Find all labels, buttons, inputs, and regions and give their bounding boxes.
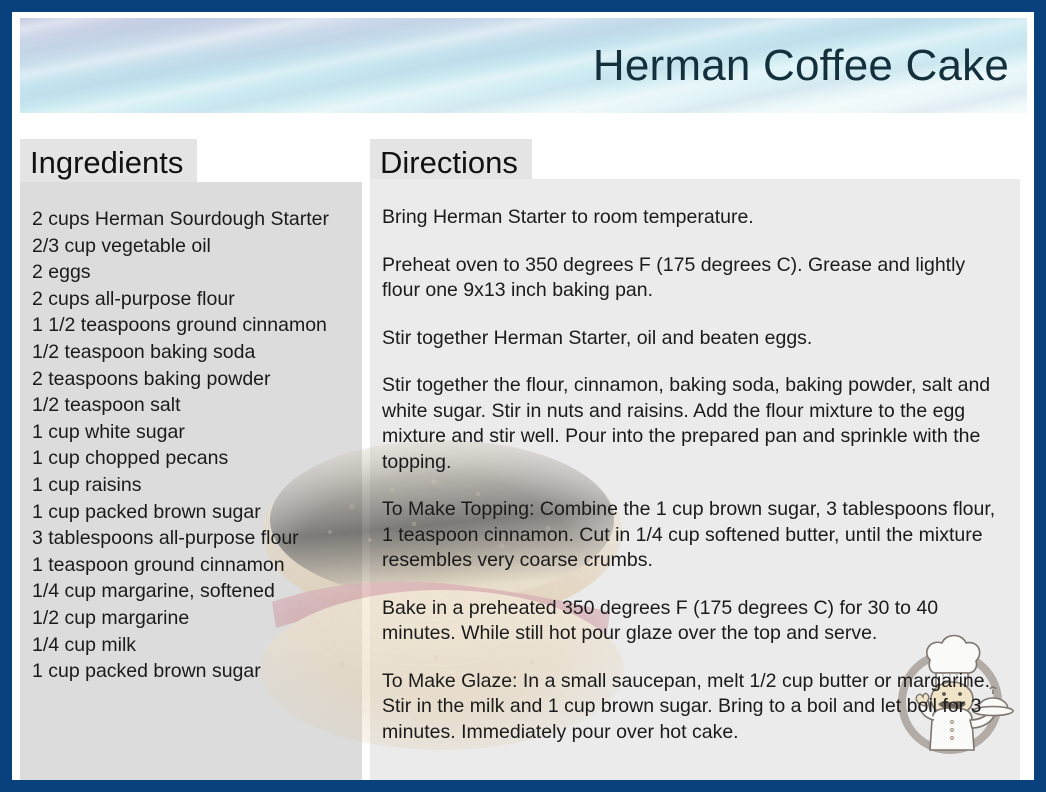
ingredient-item: 2 cups Herman Sourdough Starter — [32, 206, 354, 233]
ingredient-item: 1 cup raisins — [32, 472, 354, 499]
ingredient-item: 2 cups all-purpose flour — [32, 286, 354, 313]
ingredient-item: 1/2 cup margarine — [32, 605, 354, 632]
ingredient-item: 1 cup packed brown sugar — [32, 658, 354, 685]
ingredients-panel: 2 cups Herman Sourdough Starter2/3 cup v… — [20, 182, 362, 780]
direction-step: Preheat oven to 350 degrees F (175 degre… — [382, 253, 1004, 304]
recipe-page: Herman Coffee Cake Ingredients 2 cups He… — [12, 12, 1034, 780]
directions-panel: Bring Herman Starter to room temperature… — [370, 179, 1020, 780]
ingredients-section-header: Ingredients — [20, 139, 197, 187]
ingredient-item: 1/2 teaspoon baking soda — [32, 339, 354, 366]
ingredients-list: 2 cups Herman Sourdough Starter2/3 cup v… — [20, 182, 362, 685]
ingredient-item: 2 teaspoons baking powder — [32, 366, 354, 393]
ingredient-item: 1/4 cup milk — [32, 632, 354, 659]
direction-step: Stir together the flour, cinnamon, bakin… — [382, 373, 1004, 475]
ingredient-item: 1 cup chopped pecans — [32, 445, 354, 472]
directions-list: Bring Herman Starter to room temperature… — [370, 179, 1020, 745]
recipe-card: Herman Coffee Cake Ingredients 2 cups He… — [0, 0, 1046, 792]
ingredient-item: 1 1/2 teaspoons ground cinnamon — [32, 312, 354, 339]
ingredient-item: 2 eggs — [32, 259, 354, 286]
ingredient-item: 1 cup white sugar — [32, 419, 354, 446]
ingredient-item: 2/3 cup vegetable oil — [32, 233, 354, 260]
direction-step: Stir together Herman Starter, oil and be… — [382, 326, 1004, 352]
ingredient-item: 1 cup packed brown sugar — [32, 499, 354, 526]
direction-step: To Make Glaze: In a small saucepan, melt… — [382, 669, 1004, 746]
ingredient-item: 3 tablespoons all-purpose flour — [32, 525, 354, 552]
ingredient-item: 1/4 cup margarine, softened — [32, 578, 354, 605]
title-banner: Herman Coffee Cake — [20, 18, 1027, 113]
page-title: Herman Coffee Cake — [593, 41, 1009, 91]
ingredient-item: 1 teaspoon ground cinnamon — [32, 552, 354, 579]
ingredient-item: 1/2 teaspoon salt — [32, 392, 354, 419]
direction-step: Bring Herman Starter to room temperature… — [382, 205, 1004, 231]
direction-step: Bake in a preheated 350 degrees F (175 d… — [382, 596, 1004, 647]
direction-step: To Make Topping: Combine the 1 cup brown… — [382, 497, 1004, 574]
